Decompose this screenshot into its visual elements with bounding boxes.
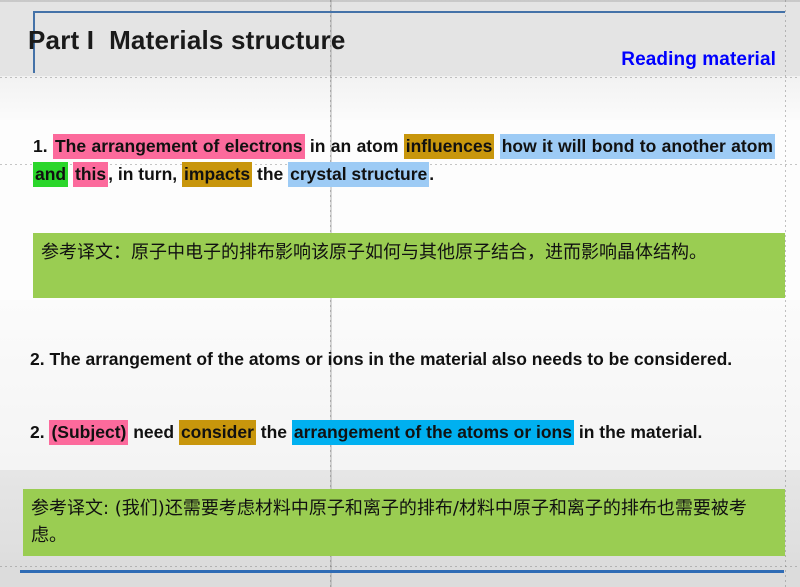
translation-box-2: 参考译文: (我们)还需要考虑材料中原子和离子的排布/材料中原子和离子的排布也需…: [23, 489, 785, 556]
paragraph-2-number: 2.: [30, 349, 45, 369]
paragraph-3-highlight-gold-2: consider: [179, 420, 256, 445]
paragraph-1-text-11: the: [252, 164, 288, 184]
paragraph-1-highlight-gold-10: impacts: [182, 162, 252, 187]
paragraph-3-text-3: the: [256, 422, 292, 442]
paragraph-1-text-3: [494, 136, 499, 156]
paragraph-1-text-9: , in turn,: [108, 164, 182, 184]
paragraph-1-body: The arrangement of electrons in an atom …: [33, 134, 775, 187]
footer-rule: [20, 570, 784, 573]
paragraph-1-highlight-blue-4: how it will bond to another atom: [500, 134, 775, 159]
paragraph-2-text: The arrangement of the atoms or ions in …: [49, 349, 732, 369]
page-title: Part I Materials structure: [28, 25, 346, 56]
reading-material-label: Reading material: [621, 49, 776, 71]
paragraph-3: 2. (Subject) need consider the arrangeme…: [30, 418, 778, 446]
paragraph-1: 1. The arrangement of electrons in an at…: [33, 132, 775, 188]
paragraph-1-highlight-blue-12: crystal structure: [288, 162, 429, 187]
paragraph-3-highlight-pink-0: (Subject): [49, 420, 128, 445]
paragraph-1-highlight-pink-0: The arrangement of electrons: [53, 134, 305, 159]
paragraph-3-text-1: need: [128, 422, 179, 442]
header-rule-top: [33, 11, 785, 13]
slide-canvas: Part I Materials structure Reading mater…: [0, 0, 800, 587]
paragraph-1-highlight-pink-8: this: [73, 162, 108, 187]
paragraph-3-highlight-cyan-4: arrangement of the atoms or ions: [292, 420, 574, 445]
paragraph-1-highlight-gold-2: influences: [404, 134, 495, 159]
paragraph-1-number: 1.: [33, 136, 48, 156]
paragraph-1-text-1: in an atom: [305, 136, 404, 156]
guide-line-vertical-2: [785, 0, 786, 587]
paragraph-3-number: 2.: [30, 422, 45, 442]
paragraph-2: 2. The arrangement of the atoms or ions …: [30, 345, 778, 373]
guide-line-horizontal-3: [0, 566, 800, 567]
paragraph-1-text-13: .: [429, 164, 434, 184]
paragraph-3-text-5: in the material.: [574, 422, 702, 442]
paragraph-3-body: (Subject) need consider the arrangement …: [49, 420, 702, 445]
paragraph-1-highlight-green-6: and: [33, 162, 68, 187]
translation-box-1: 参考译文：原子中电子的排布影响该原子如何与其他原子结合，进而影响晶体结构。: [33, 233, 785, 298]
slide-header: Part I Materials structure Reading mater…: [0, 0, 800, 78]
